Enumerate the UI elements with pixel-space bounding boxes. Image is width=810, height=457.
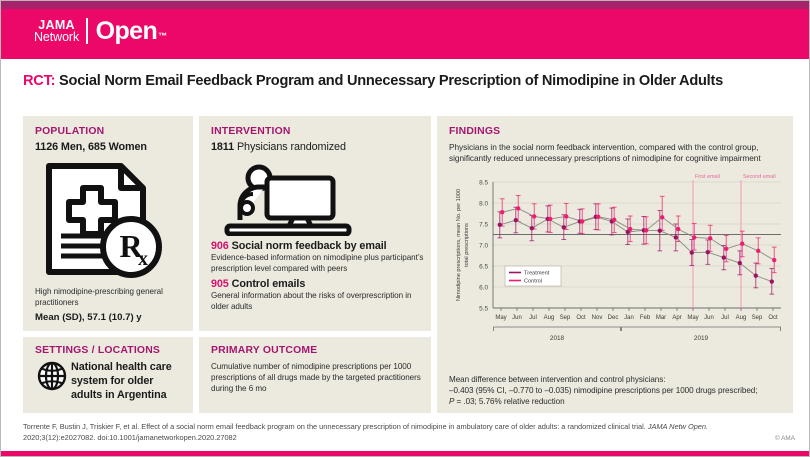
footer-citation: Torrente F, Bustin J, Triskier F, et al.… [23,422,723,443]
primary-outcome-description: Cumulative number of nimodipine prescrip… [211,361,423,394]
data-point-control [564,214,568,218]
intervention-arm-1-label: 906 Social norm feedback by email [211,240,387,252]
data-point-treatment [738,261,742,265]
y-axis-tick-label: 8.0 [479,201,488,208]
data-point-control [772,258,776,262]
y-axis-tick-label: 8.5 [479,180,488,187]
settings-heading: SETTINGS / LOCATIONS [35,345,160,356]
findings-heading: FINDINGS [449,126,500,137]
x-axis-month-label: Dec [608,315,619,321]
data-point-control [660,215,664,219]
data-point-treatment [706,250,710,254]
data-point-control [644,228,648,232]
data-point-treatment [498,223,502,227]
data-point-treatment [722,255,726,259]
population-heading: POPULATION [35,126,104,137]
x-axis-month-label: Oct [576,315,586,321]
title-study-type: RCT: [23,73,55,89]
jama-network-open-logo: JAMA Network Open ™ [34,18,167,44]
page-title: RCT: Social Norm Email Feedback Program … [23,73,793,91]
data-point-control [724,247,728,251]
primary-outcome-heading: PRIMARY OUTCOME [211,345,317,356]
intervention-arm-1-count: 906 [211,240,229,252]
title-line: RCT: Social Norm Email Feedback Program … [23,73,793,91]
logo-open-text: Open [88,18,158,44]
data-point-control [612,218,616,222]
x-axis-month-label: Apr [672,315,681,321]
intervention-arm-2-description: General information about the risks of o… [211,290,427,312]
data-point-control [756,249,760,253]
data-point-treatment [690,250,694,254]
footer-citation-block: Torrente F, Bustin J, Triskier F, et al.… [23,422,723,443]
data-point-treatment [562,225,566,229]
population-demographics: 1126 Men, 685 Women [35,141,147,153]
x-axis-month-label: Sep [752,315,763,321]
title-main-text: Social Norm Email Feedback Program and U… [59,73,723,89]
y-axis-tick-label: 6.0 [479,285,488,292]
data-point-control [596,215,600,219]
findings-stat-line-1: Mean difference between intervention and… [449,374,787,385]
data-point-control [740,242,744,246]
population-footnote: High nimodipine-prescribing general prac… [35,286,185,308]
annotation-label-2: Second email [743,174,776,180]
x-axis-month-label: Jul [721,315,729,321]
population-mean-age: Mean (SD), 57.1 (10.7) y [35,312,142,323]
intervention-randomized: 1811 Physicians randomized [211,141,346,153]
y-axis-tick-label: 5.5 [479,306,488,313]
x-axis-month-label: Feb [640,315,651,321]
globe-icon [37,361,67,396]
intervention-arm-2-label: 905 Control emails [211,278,305,290]
x-axis-month-label: Mar [656,315,666,321]
intervention-heading: INTERVENTION [211,126,291,137]
data-point-control [692,235,696,239]
x-axis-month-label: May [687,315,698,321]
data-point-control [548,217,552,221]
year-label-1: 2018 [550,335,565,342]
x-axis-month-label: Aug [736,315,747,321]
legend-label-control: Control [524,279,542,285]
x-axis-month-label: Oct [768,315,778,321]
data-point-control [676,227,680,231]
year-label-2: 2019 [694,335,709,342]
y-axis-tick-label: 7.5 [479,222,488,229]
intervention-arm-1-title: Social norm feedback by email [232,240,387,252]
intervention-arm-1-description: Evidence-based information on nimodipine… [211,252,427,274]
y-axis-tick-label: 6.5 [479,264,488,271]
findings-panel: FINDINGS Physicians in the social norm f… [437,116,793,413]
bottom-accent-stripe [1,451,810,456]
data-point-treatment [770,279,774,283]
legend-label-treatment: Treatment [524,271,550,277]
chart-svg: 5.56.06.57.07.58.08.5Nimodipine prescrip… [447,168,787,364]
data-point-treatment [530,226,534,230]
physician-computer-icon [213,164,361,241]
visual-abstract-page: JAMA Network Open ™ RCT: Social Norm Ema… [0,0,810,457]
y-axis-title-line-2: total prescriptions [464,223,470,267]
findings-stat-line-2: –0.403 (95% CI, –0.770 to –0.035) nimodi… [449,385,787,396]
x-axis-month-label: Jun [512,315,522,321]
x-axis-month-label: Jun [704,315,714,321]
masthead-banner: JAMA Network Open ™ [1,1,810,59]
data-point-control [580,219,584,223]
copyright-notice: © AMA [775,435,795,442]
y-axis-title-line-1: Nimodipine prescriptions, mean No. per 1… [456,189,462,301]
data-point-control [628,227,632,231]
findings-stat-line-3: P = .03; 5.76% relative reduction [449,396,787,407]
population-panel: POPULATION 1126 Men, 685 Women R x High … [23,116,193,331]
citation-doi: 2020;3(12):e2027082. doi:10.1001/jamanet… [23,433,237,442]
intervention-arm-2-count: 905 [211,278,229,290]
data-point-control [532,214,536,218]
intervention-arm-2-title: Control emails [232,278,306,290]
intervention-panel: INTERVENTION 1811 Physicians randomized … [199,116,431,331]
nimodipine-prescriptions-chart: 5.56.06.57.07.58.08.5Nimodipine prescrip… [447,168,787,364]
settings-description: National health care system for older ad… [71,361,183,402]
data-point-treatment [514,218,518,222]
y-axis-tick-label: 7.0 [479,243,488,250]
svg-text:x: x [138,248,148,270]
logo-network-text: Network [34,31,79,44]
trademark-icon: ™ [157,31,167,44]
citation-authors-title: Torrente F, Bustin J, Triskier F, et al.… [23,422,648,431]
x-axis-month-label: Jan [624,315,634,321]
citation-journal: JAMA Netw Open. [648,422,708,431]
data-point-control [516,206,520,210]
x-axis-month-label: Jul [529,315,537,321]
masthead-accent-strip [1,1,810,9]
intervention-count-label: Physicians randomized [237,141,346,153]
findings-p-value: = .03; 5.76% relative reduction [454,397,564,406]
data-point-treatment [754,273,758,277]
x-axis-month-label: May [495,315,506,321]
findings-statistics: Mean difference between intervention and… [449,374,787,407]
intervention-count: 1811 [211,141,234,153]
x-axis-month-label: Nov [592,315,603,321]
data-point-control [500,210,504,214]
prescription-document-icon: R x [45,162,171,285]
data-point-treatment [658,229,662,233]
data-point-treatment [674,235,678,239]
data-point-control [708,236,712,240]
annotation-label-1: First email [695,174,720,180]
primary-outcome-panel: PRIMARY OUTCOME Cumulative number of nim… [199,337,431,413]
x-axis-month-label: Aug [544,315,555,321]
settings-panel: SETTINGS / LOCATIONS National health car… [23,337,193,413]
findings-summary: Physicians in the social norm feedback i… [449,142,785,165]
jama-network-wordmark: JAMA Network [34,19,86,43]
x-axis-month-label: Sep [560,315,571,321]
